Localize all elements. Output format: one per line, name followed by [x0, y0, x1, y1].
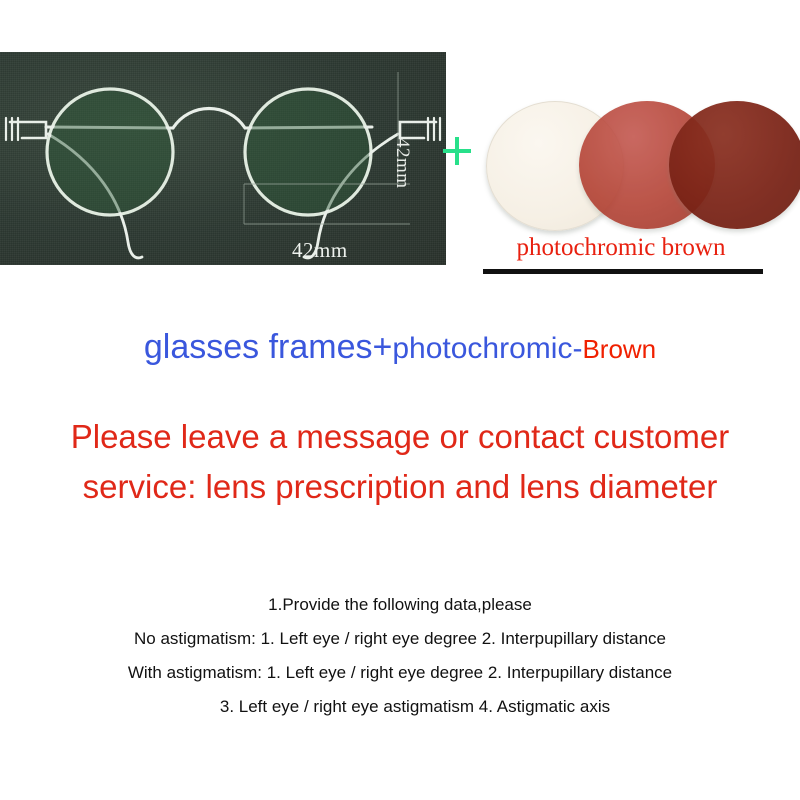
horizontal-dimension-label: 42mm — [292, 238, 348, 263]
photochromic-lens-group — [486, 98, 764, 232]
note-line-2: No astigmatism: 1. Left eye / right eye … — [0, 622, 800, 656]
vertical-dimension-label: 42mm — [391, 138, 413, 189]
title-part-photochromic: photochromic- — [392, 332, 582, 365]
lens-caption: photochromic brown — [476, 234, 766, 262]
contact-headline-line-1: Please leave a message or contact custom… — [0, 412, 800, 462]
contact-headline: Please leave a message or contact custom… — [0, 412, 800, 512]
caption-underline — [483, 269, 763, 274]
plus-icon — [443, 137, 471, 165]
title-part-frames: glasses frames+ — [144, 328, 393, 366]
product-listing-image: 42mm 42mm photochromic brown glasses fra… — [0, 0, 800, 800]
lens-dark-state — [669, 101, 800, 229]
eyeglass-frame-photo: 42mm 42mm — [0, 52, 446, 265]
prescription-notes: 1.Provide the following data,please No a… — [0, 588, 800, 724]
eyeglass-frame-drawing — [0, 52, 446, 265]
contact-headline-line-2: service: lens prescription and lens diam… — [0, 462, 800, 512]
product-title: glasses frames+photochromic-Brown — [0, 328, 800, 367]
note-line-1: 1.Provide the following data,please — [0, 588, 800, 622]
title-part-brown: Brown — [582, 334, 656, 364]
note-line-3: With astigmatism: 1. Left eye / right ey… — [0, 656, 800, 690]
note-line-4: 3. Left eye / right eye astigmatism 4. A… — [0, 690, 800, 724]
